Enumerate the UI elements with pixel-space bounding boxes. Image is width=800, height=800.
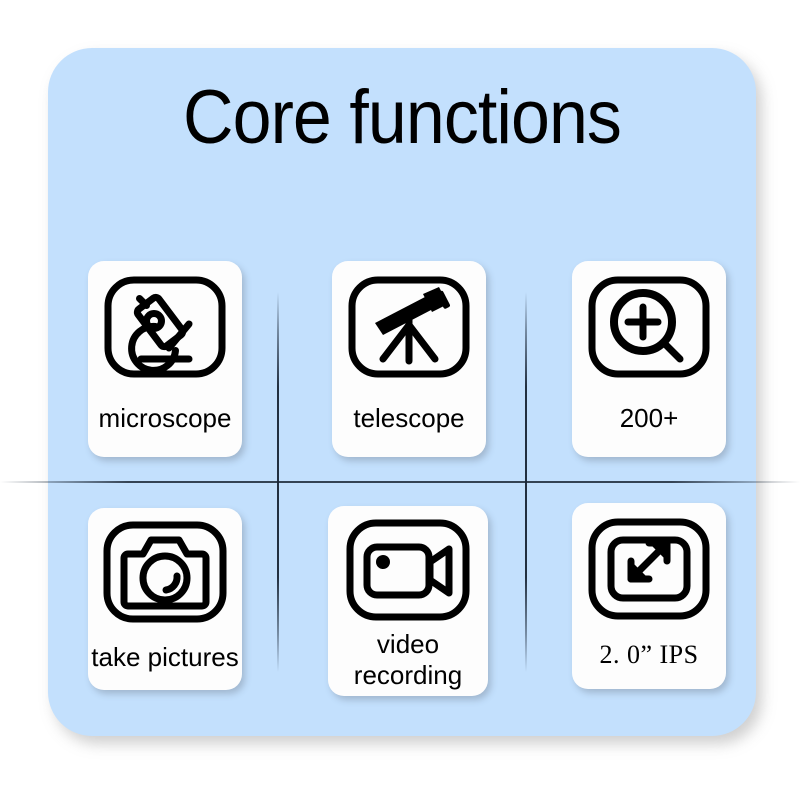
feature-label-microscope: microscope (99, 403, 232, 433)
feature-card-microscope[interactable]: microscope (88, 261, 242, 457)
feature-label-take-pictures: take pictures (91, 642, 238, 672)
feature-label-display: 2. 0” IPS (599, 640, 698, 670)
vertical-divider-left (277, 292, 279, 672)
horizontal-divider (0, 481, 800, 483)
feature-card-video-recording[interactable]: video recording (328, 506, 488, 696)
feature-card-magnification[interactable]: 200+ (572, 261, 726, 457)
feature-card-display[interactable]: 2. 0” IPS (572, 503, 726, 689)
feature-label-video-recording-line2: recording (354, 660, 462, 691)
vertical-divider-right (525, 292, 527, 672)
infographic-canvas: Core functions microscope (0, 0, 800, 800)
feature-card-telescope[interactable]: telescope (332, 261, 486, 457)
microscope-icon (103, 275, 227, 379)
zoom-in-magnifier-icon (587, 275, 711, 379)
page-title: Core functions (76, 74, 727, 162)
feature-label-video-recording-line1: video (377, 627, 439, 660)
expand-screen-icon (587, 517, 711, 621)
telescope-icon (347, 275, 471, 379)
feature-label-telescope: telescope (353, 403, 464, 433)
feature-label-magnification: 200+ (620, 403, 679, 433)
camera-icon (102, 520, 228, 624)
video-camera-icon (345, 518, 471, 622)
feature-card-take-pictures[interactable]: take pictures (88, 508, 242, 690)
